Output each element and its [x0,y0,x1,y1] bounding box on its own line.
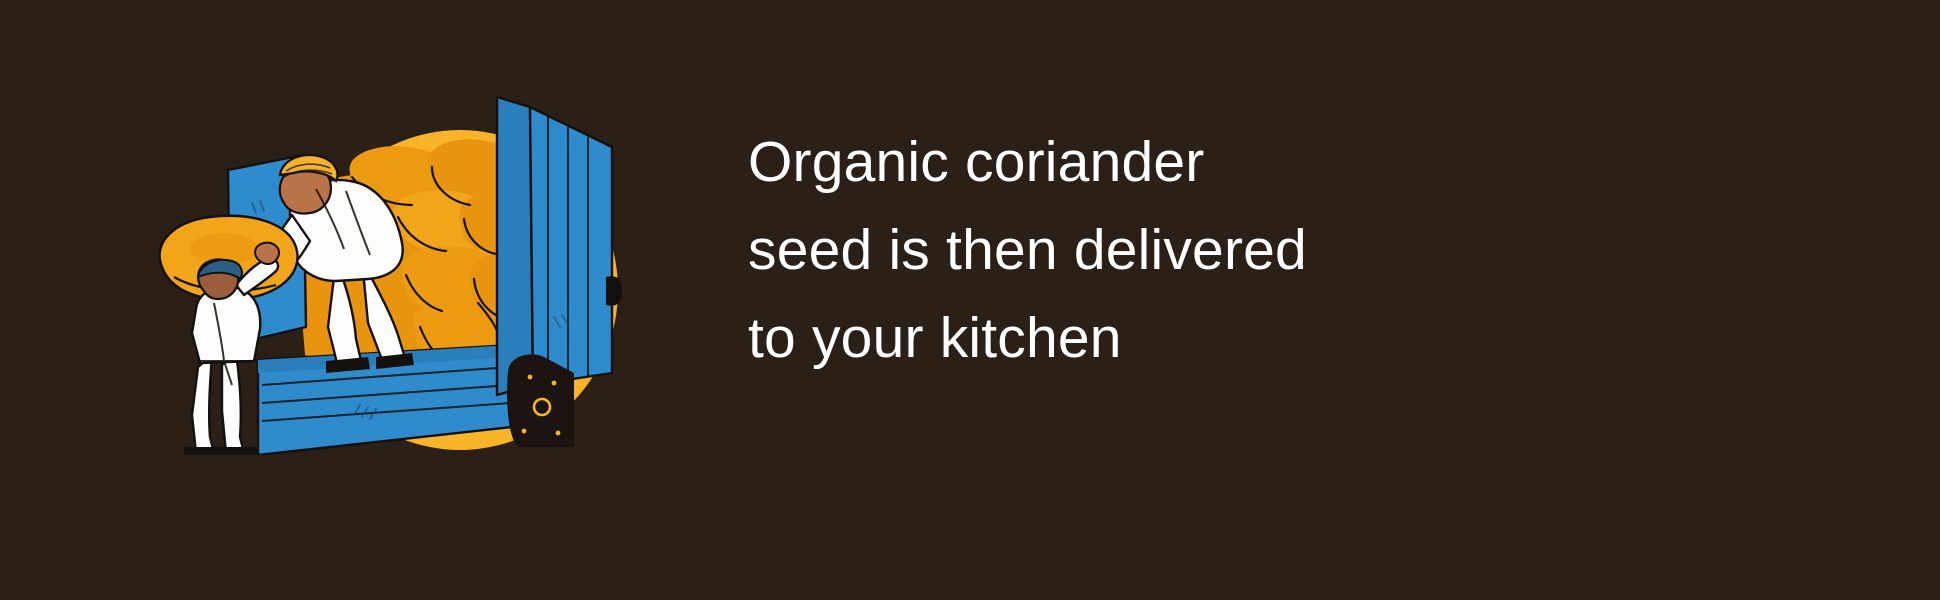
headline-line-2: seed is then delivered [748,206,1448,294]
illustration-svg [140,55,640,455]
headline-line-1: Organic coriander [748,118,1448,206]
sandal [184,447,258,455]
headline-block: Organic coriander seed is then delivered… [748,118,1448,382]
tailgate-latch [606,276,622,305]
truck-tailgate-panel [497,97,622,395]
promo-banner: Organic coriander seed is then delivered… [0,0,1940,600]
truck-loading-illustration [140,55,640,455]
headline-line-3: to your kitchen [748,294,1448,382]
truck-wheel [507,354,574,447]
